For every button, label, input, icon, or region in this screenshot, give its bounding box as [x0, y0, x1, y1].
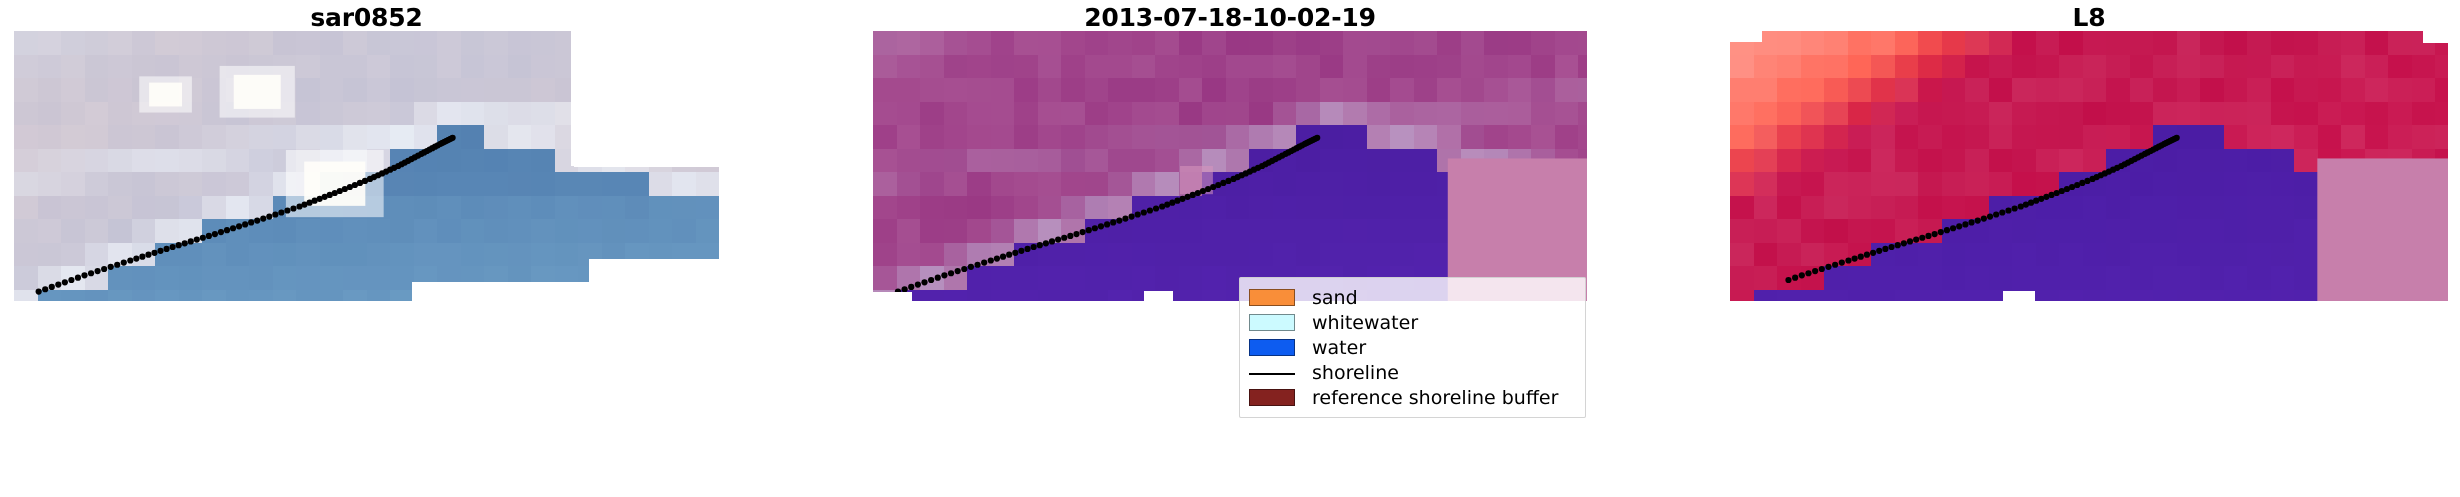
legend-swatch-reference-buffer-icon — [1249, 389, 1295, 406]
legend-item-whitewater: whitewater — [1249, 310, 1575, 335]
panel-sar: sar0852 — [14, 0, 719, 497]
legend-swatch-whitewater-icon — [1249, 314, 1295, 331]
panel-image-l8 — [1730, 31, 2448, 301]
legend-item-water: water — [1249, 335, 1575, 360]
legend-swatch-water-icon — [1249, 339, 1295, 356]
legend-label-sand: sand — [1312, 287, 1358, 309]
panel-image-sar — [14, 31, 719, 301]
classified-raster — [873, 31, 1587, 301]
legend-label-whitewater: whitewater — [1312, 312, 1418, 334]
legend: sand whitewater water shoreline referenc… — [1239, 277, 1586, 418]
panel-l8: L8 — [1730, 0, 2448, 497]
legend-swatch-shoreline-icon — [1249, 364, 1295, 381]
legend-label-shoreline: shoreline — [1312, 362, 1399, 384]
figure-canvas: sar0852 2013-07-18-10-02-19 L8 sand whit… — [0, 0, 2460, 497]
legend-swatch-sand-icon — [1249, 289, 1295, 306]
legend-item-sand: sand — [1249, 285, 1575, 310]
panel-title-l8: L8 — [1730, 4, 2448, 32]
legend-item-reference-buffer: reference shoreline buffer — [1249, 385, 1575, 410]
panel-title-classified: 2013-07-18-10-02-19 — [873, 4, 1587, 32]
l8-raster — [1730, 31, 2448, 301]
panel-title-sar: sar0852 — [14, 4, 719, 32]
panel-classified: 2013-07-18-10-02-19 — [873, 0, 1587, 497]
legend-item-shoreline: shoreline — [1249, 360, 1575, 385]
panel-image-classified — [873, 31, 1587, 301]
legend-label-reference-buffer: reference shoreline buffer — [1312, 387, 1558, 409]
legend-label-water: water — [1312, 337, 1366, 359]
sar-raster — [14, 31, 719, 301]
